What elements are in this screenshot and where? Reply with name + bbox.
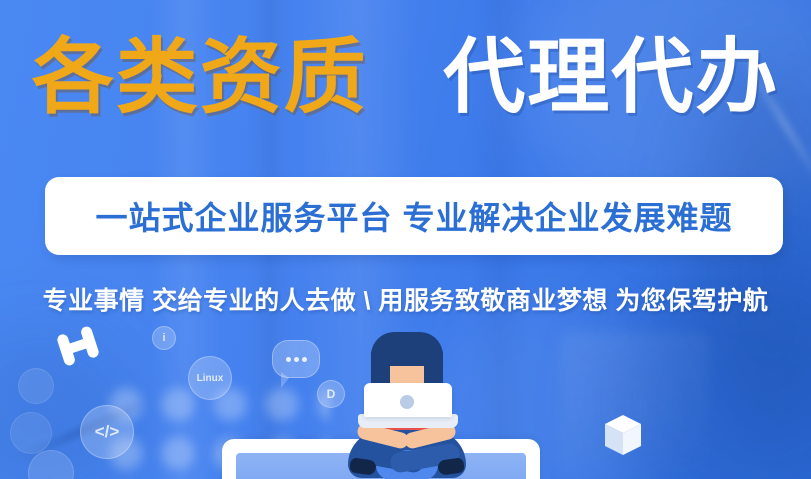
promo-banner: 各类资质 代理代办 一站式企业服务平台 专业解决企业发展难题 专业事情 交给专业… bbox=[0, 0, 811, 479]
linux-badge: Linux bbox=[188, 356, 232, 400]
headline-white-text: 代理代办 bbox=[443, 32, 779, 123]
cube-icon bbox=[603, 413, 643, 457]
linux-badge-label: Linux bbox=[197, 373, 224, 384]
headline-gold-text: 各类资质 bbox=[32, 32, 368, 123]
subtitle-card: 一站式企业服务平台 专业解决企业发展难题 bbox=[45, 177, 783, 255]
banner-tagline: 专业事情 交给专业的人去做 \ 用服务致敬商业梦想 为您保驾护航 bbox=[0, 281, 811, 317]
banner-headline: 各类资质 代理代办 bbox=[0, 32, 811, 124]
laptop-logo-icon bbox=[400, 395, 414, 409]
hero-illustration: i Linux </> D bbox=[0, 320, 811, 479]
decorative-circle bbox=[28, 450, 74, 479]
decorative-circle bbox=[10, 412, 52, 454]
h-logo-icon bbox=[55, 326, 101, 366]
subtitle-text: 一站式企业服务平台 专业解决企业发展难题 bbox=[96, 193, 733, 239]
code-badge-label: </> bbox=[95, 422, 120, 442]
chat-bubble-dots bbox=[286, 357, 307, 362]
info-badge: i bbox=[152, 326, 176, 350]
decorative-circle bbox=[18, 368, 54, 404]
info-badge-label: i bbox=[162, 332, 165, 344]
person-illustration bbox=[332, 332, 482, 479]
chat-bubble-icon bbox=[272, 340, 320, 378]
code-badge: </> bbox=[80, 405, 134, 459]
